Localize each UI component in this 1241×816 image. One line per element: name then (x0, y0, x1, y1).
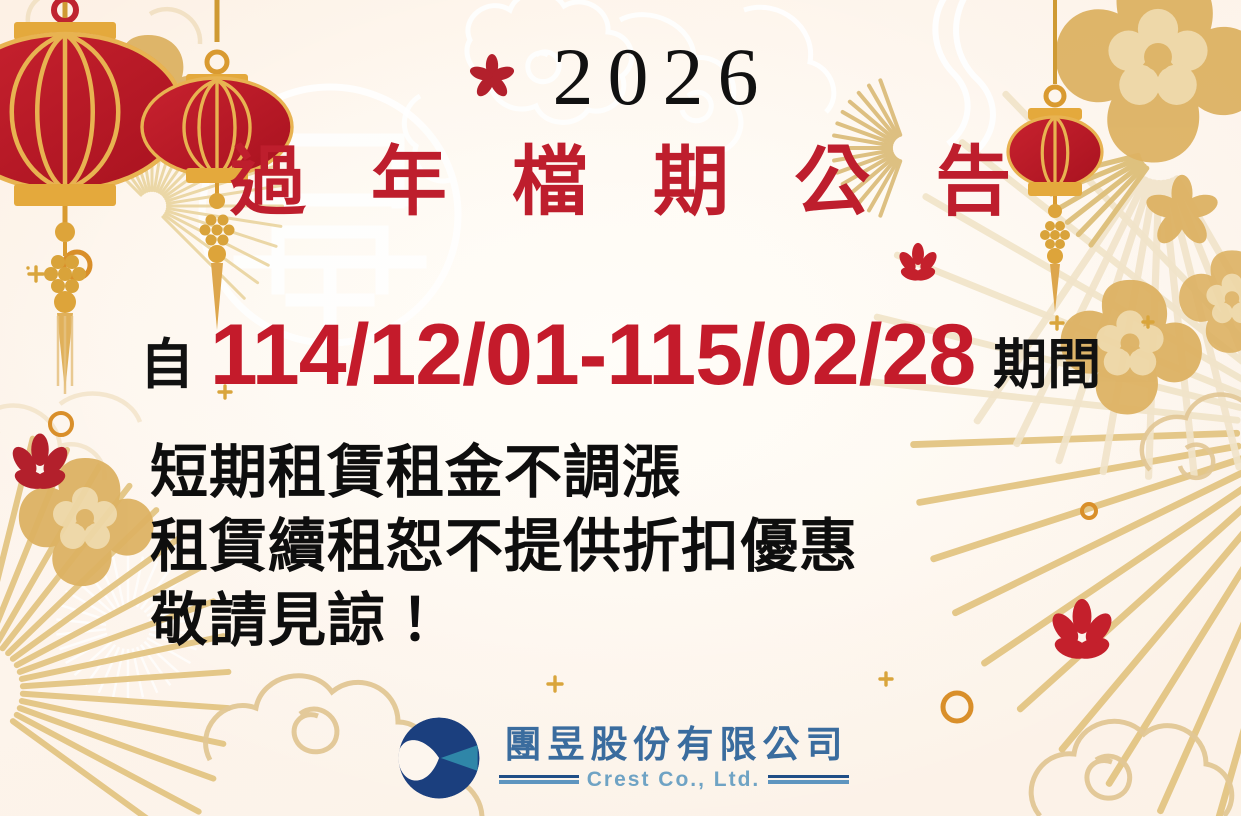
announcement-body: 短期租賃租金不調漲 租賃續租恕不提供折扣優惠 敬請見諒！ (150, 436, 1050, 658)
crest-circle-logo-icon (393, 712, 485, 804)
date-range-value: 114/12/01-115/02/28 (210, 312, 975, 398)
company-name-en-row: Crest Co., Ltd. (499, 769, 849, 790)
company-name-en: Crest Co., Ltd. (587, 769, 761, 790)
date-prefix-label: 自 (140, 338, 194, 398)
new-year-announcement-poster: 2026 過 年 檔 期 公 告 自 114/12/01-115/02/28 期… (0, 0, 1241, 816)
year-row: 2026 (0, 36, 1241, 118)
year-text: 2026 (539, 36, 773, 118)
logo-text: 團昱股份有限公司 Crest Co., Ltd. (499, 726, 849, 791)
plum-blossom-icon (469, 54, 515, 100)
company-name-cn: 團昱股份有限公司 (499, 726, 849, 765)
body-line-2: 租賃續租恕不提供折扣優惠 (150, 510, 1050, 584)
body-line-1: 短期租賃租金不調漲 (150, 436, 1050, 510)
date-range-row: 自 114/12/01-115/02/28 期間 (0, 312, 1241, 398)
company-logo: 團昱股份有限公司 Crest Co., Ltd. (0, 712, 1241, 804)
rule-left (499, 775, 579, 784)
poster-content: 2026 過 年 檔 期 公 告 自 114/12/01-115/02/28 期… (0, 0, 1241, 816)
date-suffix-label: 期間 (993, 338, 1101, 398)
body-line-3: 敬請見諒！ (150, 584, 1050, 658)
rule-right (768, 775, 848, 784)
page-title: 過 年 檔 期 公 告 (0, 143, 1241, 222)
